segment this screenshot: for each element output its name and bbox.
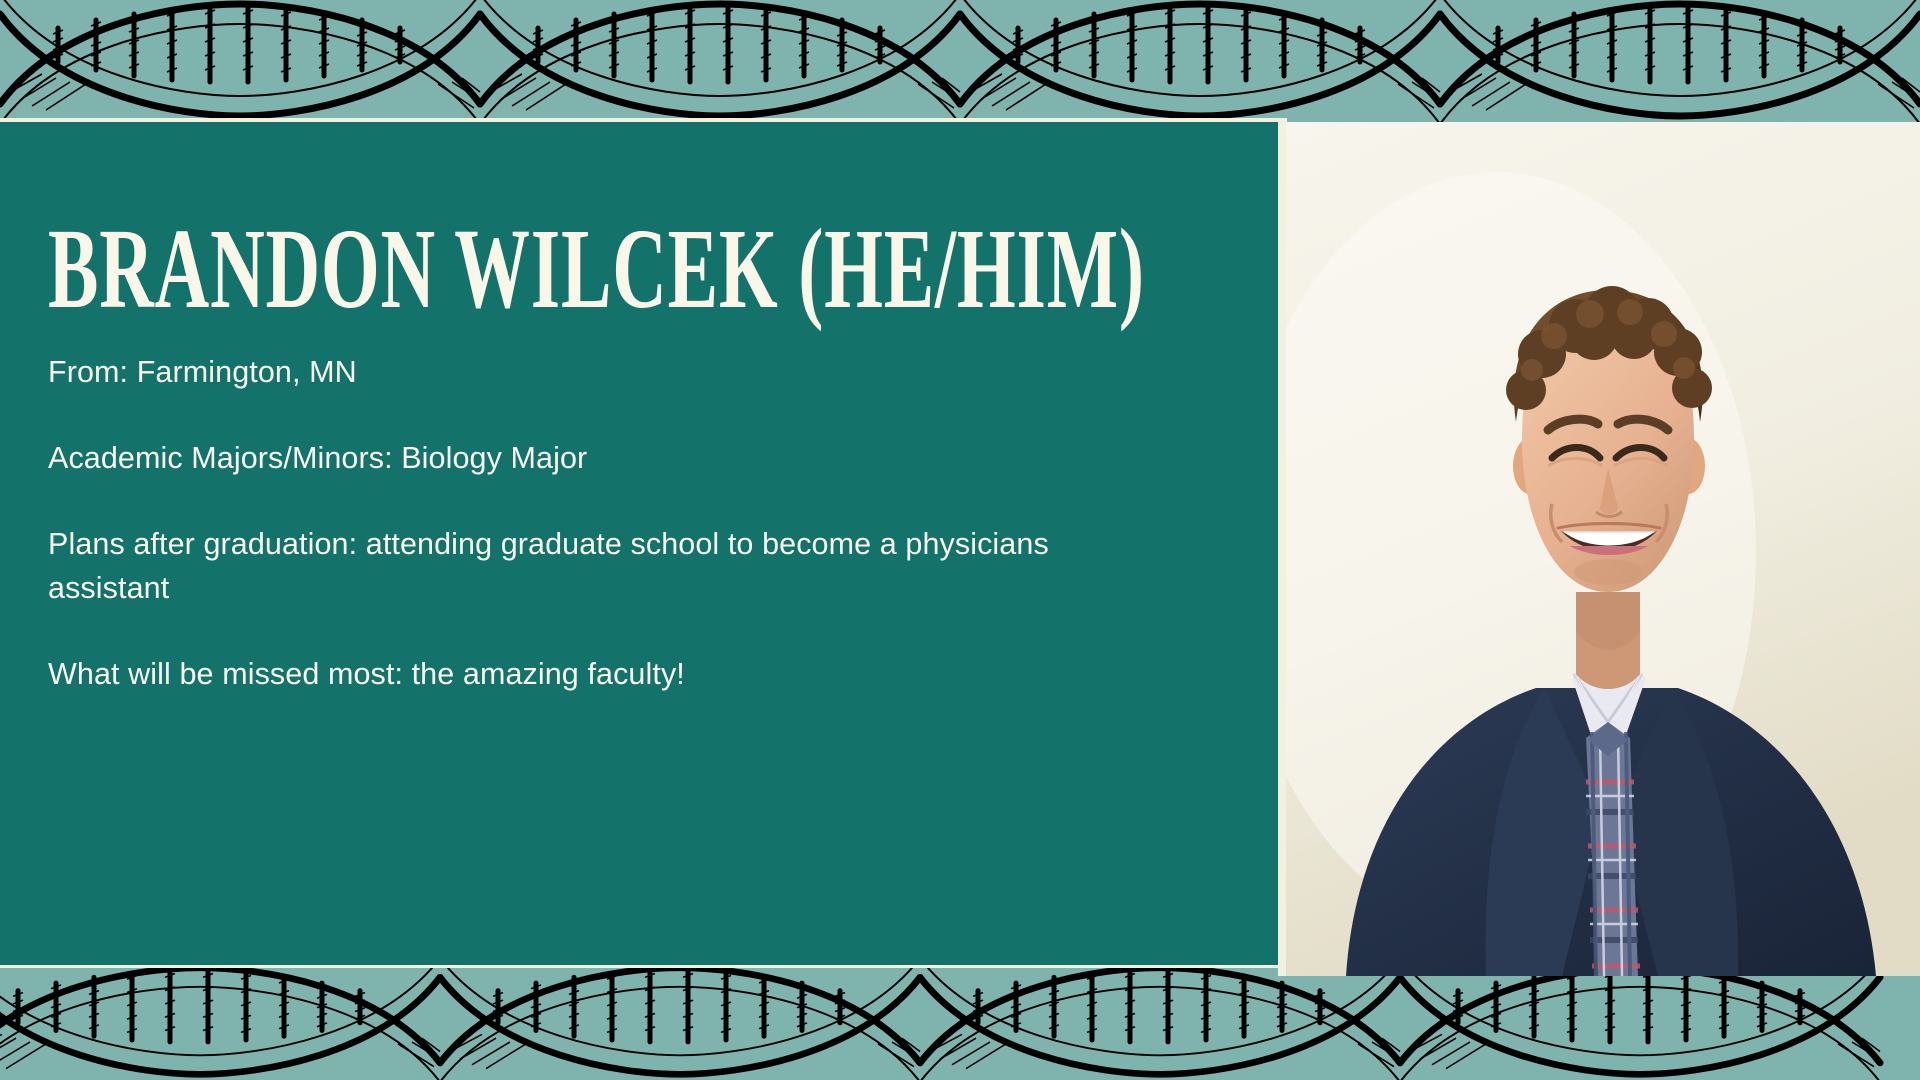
student-details-list: From: Farmington, MN Academic Majors/Min… (48, 351, 1078, 697)
detail-hometown: From: Farmington, MN (48, 351, 1078, 395)
dna-helix-icon (0, 964, 1920, 1080)
page-title: BRANDON WILCEK (HE/HIM) (48, 214, 1007, 324)
student-portrait (1286, 122, 1920, 976)
dna-helix-bottom-band (0, 964, 1920, 1080)
detail-plans-after-graduation: Plans after graduation: attending gradua… (48, 523, 1078, 611)
dna-helix-icon (0, 0, 1920, 122)
portrait-image (1286, 122, 1920, 976)
dna-helix-top-band (0, 0, 1920, 122)
slide-canvas: BRANDON WILCEK (HE/HIM) From: Farmington… (0, 0, 1920, 1080)
student-info-panel: BRANDON WILCEK (HE/HIM) From: Farmington… (0, 122, 1278, 965)
detail-missed-most: What will be missed most: the amazing fa… (48, 653, 1078, 697)
detail-majors-minors: Academic Majors/Minors: Biology Major (48, 437, 1078, 481)
